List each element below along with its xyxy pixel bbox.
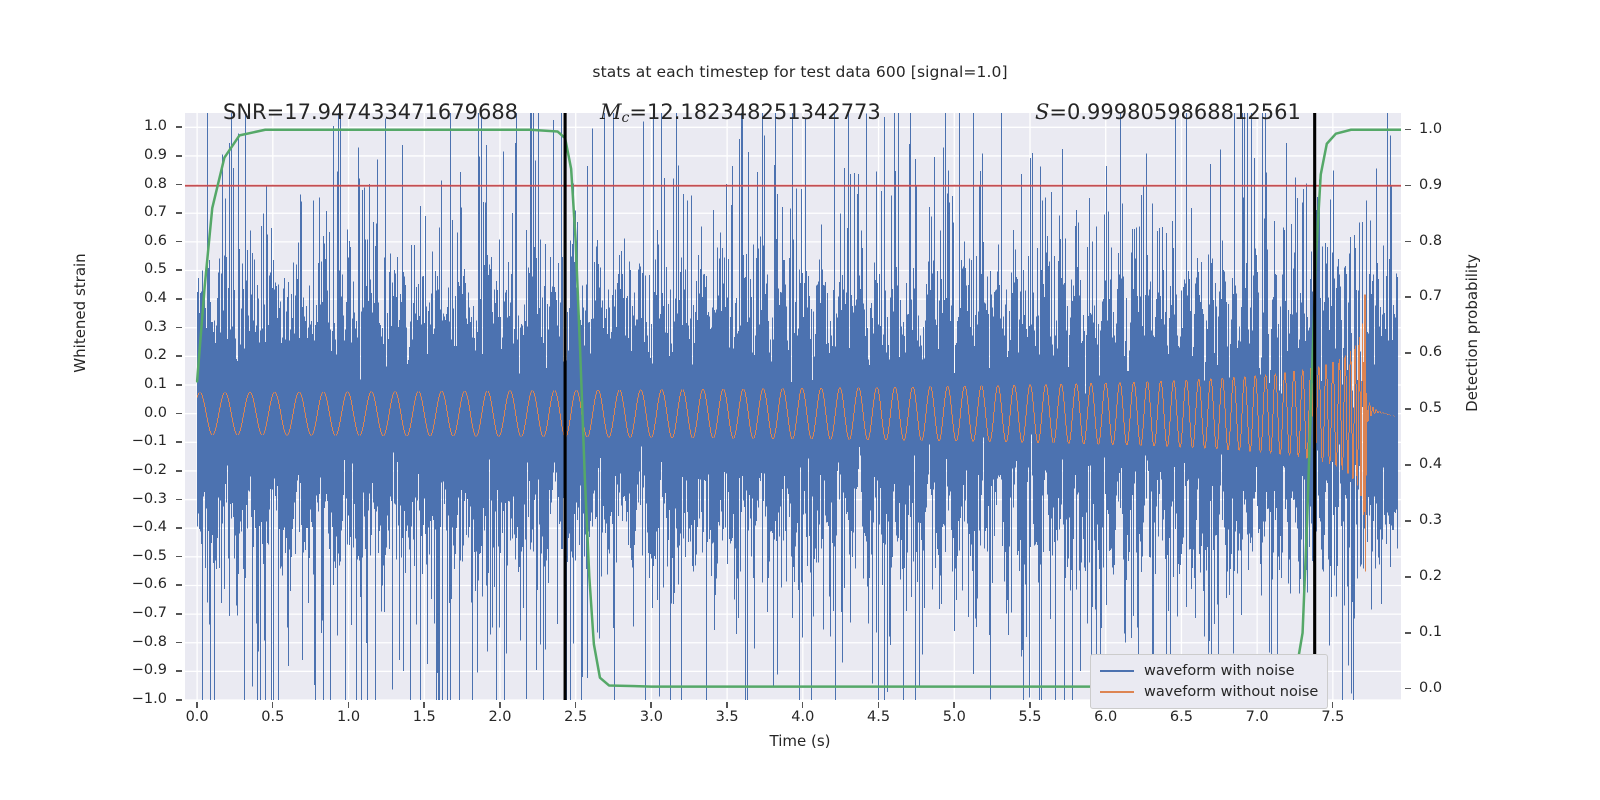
- y-axis-left-tick-label: 0.5: [107, 261, 167, 277]
- x-axis-tick-label: 6.0: [1076, 709, 1136, 725]
- y-axis-left-tickmark: [176, 212, 182, 214]
- x-axis-tick-label: 1.5: [394, 709, 454, 725]
- annotation-significance-value: 0.9998059868812561: [1067, 100, 1301, 124]
- y-axis-left-tickmark: [176, 699, 182, 701]
- legend-color-swatch: [1100, 691, 1134, 693]
- x-axis-tickmark: [348, 702, 350, 708]
- legend-item[interactable]: waveform without noise: [1100, 681, 1318, 702]
- y-axis-left-tickmark: [176, 613, 182, 615]
- legend-box: waveform with noisewaveform without nois…: [1090, 654, 1328, 709]
- x-axis-tick-label: 5.0: [924, 709, 984, 725]
- y-axis-left-tick-label: 0.9: [107, 147, 167, 163]
- y-axis-left-tick-label: −0.2: [107, 462, 167, 478]
- y-axis-right-tick-label: 0.2: [1419, 568, 1479, 584]
- y-axis-left-tick-label: −0.8: [107, 634, 167, 650]
- x-axis-tick-label: 6.5: [1151, 709, 1211, 725]
- x-axis-tick-label: 3.0: [621, 709, 681, 725]
- annotation-chirp-mass-value: 12.182348251342773: [647, 100, 881, 124]
- x-axis-tick-label: 5.5: [1000, 709, 1060, 725]
- y-axis-right-tickmark: [1405, 129, 1411, 131]
- y-axis-left-tick-label: −0.9: [107, 662, 167, 678]
- y-axis-left-tickmark: [176, 584, 182, 586]
- y-axis-right-tickmark: [1405, 241, 1411, 243]
- x-axis-tick-label: 1.0: [319, 709, 379, 725]
- y-axis-left-tickmark: [176, 527, 182, 529]
- annotation-chirp-mass-equals: =: [629, 100, 647, 124]
- y-axis-right-tick-label: 0.9: [1419, 177, 1479, 193]
- y-axis-right-tick-label: 0.4: [1419, 456, 1479, 472]
- x-axis-tickmark: [802, 702, 804, 708]
- y-axis-left-tick-label: 0.2: [107, 347, 167, 363]
- y-axis-left-tickmark: [176, 155, 182, 157]
- x-axis-tick-label: 0.5: [243, 709, 303, 725]
- y-axis-right-tickmark: [1405, 185, 1411, 187]
- y-axis-left-tick-label: −0.6: [107, 576, 167, 592]
- y-axis-left-tick-label: 0.4: [107, 290, 167, 306]
- x-axis-tickmark: [499, 702, 501, 708]
- y-axis-left-tick-label: −0.5: [107, 548, 167, 564]
- y-axis-left-tickmark: [176, 384, 182, 386]
- y-axis-left-tickmark: [176, 670, 182, 672]
- x-axis-tick-label: 4.5: [849, 709, 909, 725]
- y-axis-left-tickmark: [176, 499, 182, 501]
- y-axis-right-tickmark: [1405, 352, 1411, 354]
- y-axis-left-tick-label: 0.7: [107, 204, 167, 220]
- x-axis-tick-label: 0.0: [167, 709, 227, 725]
- y-axis-left-tick-label: −0.7: [107, 605, 167, 621]
- y-axis-left-tickmark: [176, 355, 182, 357]
- y-axis-left-tick-label: 0.1: [107, 376, 167, 392]
- y-axis-right-tickmark: [1405, 520, 1411, 522]
- y-axis-left-tickmark: [176, 269, 182, 271]
- y-axis-left-tickmark: [176, 327, 182, 329]
- x-axis-tickmark: [953, 702, 955, 708]
- annotation-chirp-mass-symbol: M: [600, 100, 622, 124]
- annotation-snr: SNR=17.947433471679688: [223, 100, 518, 124]
- y-axis-left-tickmark: [176, 642, 182, 644]
- x-axis-tickmark: [878, 702, 880, 708]
- x-axis-tick-label: 4.0: [773, 709, 833, 725]
- y-axis-left-tickmark: [176, 441, 182, 443]
- y-axis-right-tickmark: [1405, 464, 1411, 466]
- y-axis-left-tick-label: −0.3: [107, 491, 167, 507]
- annotation-snr-text: SNR=17.947433471679688: [223, 100, 518, 124]
- legend-item[interactable]: waveform with noise: [1100, 660, 1318, 681]
- x-axis-tick-label: 2.5: [546, 709, 606, 725]
- y-axis-right-tick-label: 0.0: [1419, 680, 1479, 696]
- series-waveform-with-noise: [198, 113, 1398, 700]
- y-axis-left-tick-label: −0.1: [107, 433, 167, 449]
- y-axis-left-tick-label: 1.0: [107, 118, 167, 134]
- x-axis-tickmark: [272, 702, 274, 708]
- x-axis-tickmark: [196, 702, 198, 708]
- x-axis-tickmark: [726, 702, 728, 708]
- y-axis-right-tickmark: [1405, 576, 1411, 578]
- y-axis-right-tickmark: [1405, 688, 1411, 690]
- x-axis-tick-label: 7.0: [1227, 709, 1287, 725]
- x-axis-tickmark: [650, 702, 652, 708]
- legend-color-swatch: [1100, 670, 1134, 672]
- x-axis-tick-label: 3.5: [697, 709, 757, 725]
- x-axis-title: Time (s): [0, 732, 1600, 750]
- y-axis-left-tickmark: [176, 413, 182, 415]
- annotation-chirp-mass: Mc=12.182348251342773: [600, 100, 881, 126]
- y-axis-left-tick-label: 0.6: [107, 233, 167, 249]
- y-axis-left-tickmark: [176, 556, 182, 558]
- y-axis-right-tickmark: [1405, 408, 1411, 410]
- annotation-significance-symbol: S: [1035, 100, 1049, 124]
- y-axis-right-tick-label: 0.3: [1419, 512, 1479, 528]
- y-axis-right-tickmark: [1405, 296, 1411, 298]
- y-axis-left-tick-label: −0.4: [107, 519, 167, 535]
- y-axis-left-tickmark: [176, 126, 182, 128]
- figure-canvas: stats at each timestep for test data 600…: [0, 0, 1600, 800]
- x-axis-tick-label: 2.0: [470, 709, 530, 725]
- x-axis-tickmark: [575, 702, 577, 708]
- y-axis-left-title: Whitened strain: [71, 193, 89, 433]
- annotation-significance: S=0.9998059868812561: [1035, 100, 1301, 124]
- y-axis-left-tick-label: 0.8: [107, 176, 167, 192]
- plot-svg: [185, 113, 1401, 700]
- legend-label: waveform without noise: [1144, 684, 1318, 700]
- y-axis-left-tick-label: −1.0: [107, 691, 167, 707]
- y-axis-left-tickmark: [176, 298, 182, 300]
- y-axis-right-title: Detection probability: [1463, 213, 1481, 453]
- annotation-significance-equals: =: [1049, 100, 1067, 124]
- chart-title: stats at each timestep for test data 600…: [0, 63, 1600, 81]
- y-axis-left-tickmark: [176, 470, 182, 472]
- y-axis-left-tickmark: [176, 241, 182, 243]
- plot-axes: [185, 113, 1401, 700]
- legend-label: waveform with noise: [1144, 663, 1295, 679]
- y-axis-left-tick-label: 0.3: [107, 319, 167, 335]
- y-axis-right-tick-label: 1.0: [1419, 121, 1479, 137]
- y-axis-left-tickmark: [176, 184, 182, 186]
- x-axis-tickmark: [1029, 702, 1031, 708]
- y-axis-right-tick-label: 0.1: [1419, 624, 1479, 640]
- x-axis-tickmark: [1332, 702, 1334, 708]
- x-axis-tickmark: [423, 702, 425, 708]
- y-axis-left-tick-label: 0.0: [107, 405, 167, 421]
- x-axis-tick-label: 7.5: [1303, 709, 1363, 725]
- y-axis-right-tickmark: [1405, 632, 1411, 634]
